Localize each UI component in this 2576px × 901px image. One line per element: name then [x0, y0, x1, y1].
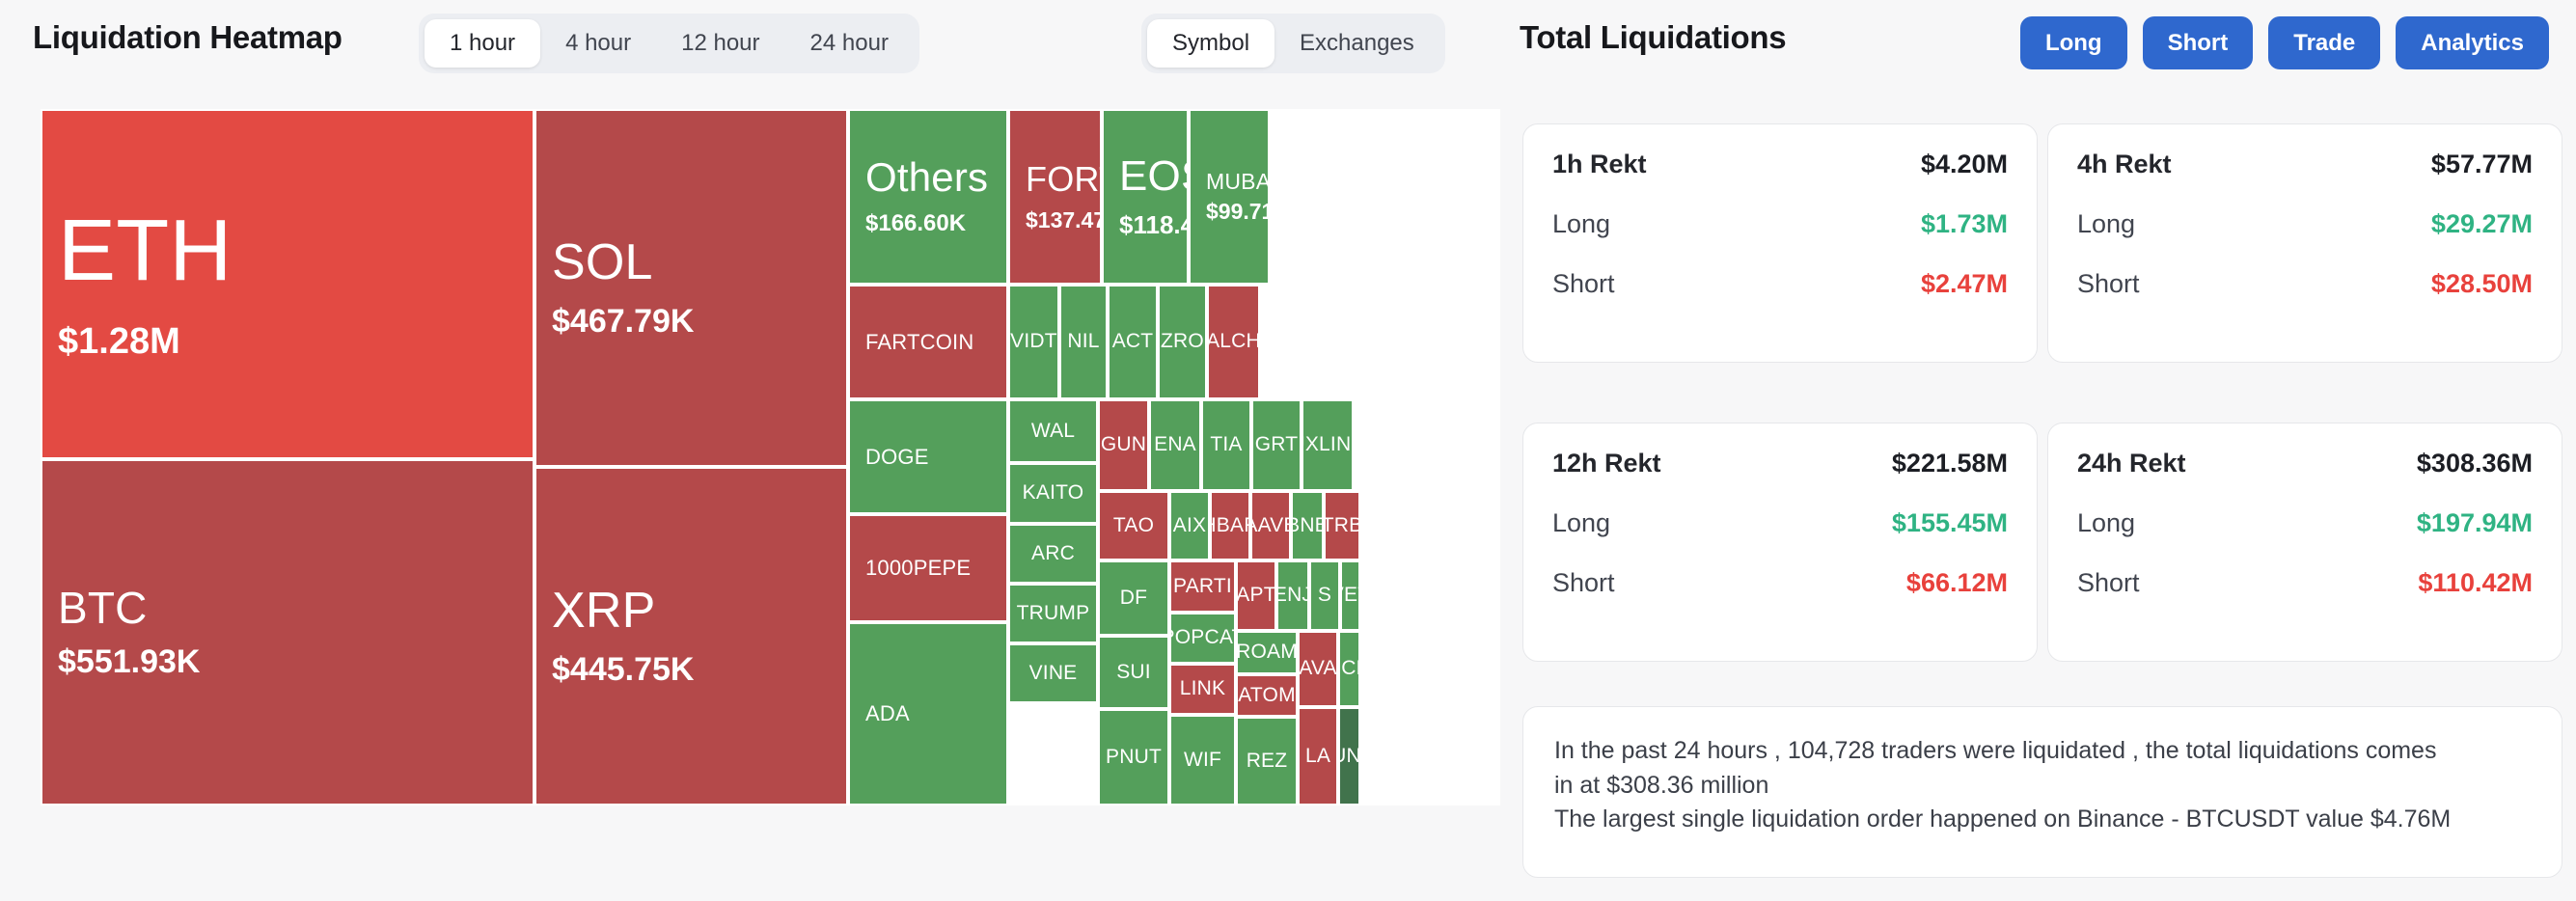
- treemap-tile-symbol: ZRO: [1161, 331, 1204, 352]
- tab-symbol[interactable]: Symbol: [1147, 19, 1274, 68]
- treemap-tile-ada[interactable]: ADA: [848, 622, 1008, 805]
- treemap-tile-symbol: PNUT: [1106, 747, 1162, 768]
- action-button-row: LongShortTradeAnalytics: [2020, 16, 2549, 69]
- treemap-tile-btc[interactable]: BTC$551.93K: [41, 459, 534, 805]
- treemap-tile-aave[interactable]: AAVE: [1250, 491, 1291, 560]
- stat-long-value: $155.45M: [1892, 508, 2008, 538]
- stat-total-row: 1h Rekt $4.20M: [1552, 150, 2008, 179]
- stat-long-value: $197.94M: [2417, 508, 2533, 538]
- treemap-tile-wif[interactable]: WIF: [1169, 715, 1236, 805]
- treemap-tile-trb[interactable]: TRB: [1324, 491, 1360, 560]
- stat-short-row: Short $2.47M: [1552, 269, 2008, 299]
- stat-short-row: Short $110.42M: [2077, 568, 2533, 598]
- treemap-tile-bnb[interactable]: BNB: [1291, 491, 1324, 560]
- treemap-tile-value: $166.60K: [865, 211, 1006, 236]
- treemap-tile-gun[interactable]: GUN: [1098, 399, 1149, 491]
- stat-short-row: Short $28.50M: [2077, 269, 2533, 299]
- treemap-tile-symbol: TRB: [1324, 515, 1360, 536]
- liquidation-treemap[interactable]: ETH$1.28MBTC$551.93KSOL$467.79KXRP$445.7…: [41, 109, 1500, 805]
- stat-long-label: Long: [1552, 209, 1610, 239]
- treemap-tile-symbol: VIDT: [1010, 331, 1057, 352]
- treemap-tile-symbol: GRT: [1255, 434, 1299, 455]
- treemap-tile-wal[interactable]: WAL: [1008, 399, 1098, 463]
- treemap-tile-value: $99.71K: [1206, 200, 1268, 224]
- treemap-tile-symbol: VET: [1340, 585, 1360, 606]
- time-range-tab-group[interactable]: 1 hour4 hour12 hour24 hour: [419, 14, 919, 73]
- treemap-tile-symbol: HBAR: [1210, 515, 1250, 536]
- long-button[interactable]: Long: [2020, 16, 2127, 69]
- treemap-tile-tia[interactable]: TIA: [1201, 399, 1251, 491]
- page-header: Liquidation Heatmap 1 hour4 hour12 hour2…: [0, 0, 2576, 93]
- treemap-tile-symbol: WIF: [1184, 750, 1221, 771]
- stat-short-label: Short: [1552, 269, 1615, 299]
- treemap-tile-symbol: SOL: [552, 236, 846, 289]
- treemap-tile-link[interactable]: LINK: [1169, 664, 1236, 715]
- stat-total-value: $221.58M: [1892, 449, 2008, 478]
- treemap-tile-symbol: BTC: [58, 585, 533, 631]
- treemap-tile-symbol: AVA: [1299, 658, 1337, 679]
- stat-period-label: 1h Rekt: [1552, 150, 1647, 179]
- treemap-tile-vet[interactable]: VET: [1340, 560, 1360, 631]
- stat-short-value: $110.42M: [2418, 568, 2533, 598]
- treemap-tile-symbol: UXLINK: [1302, 434, 1354, 455]
- treemap-tile-symbol: XRP: [552, 585, 846, 638]
- treemap-tile-kaito[interactable]: KAITO: [1008, 463, 1098, 524]
- stat-long-value: $1.73M: [1921, 209, 2008, 239]
- treemap-tile-la[interactable]: LA: [1298, 707, 1338, 805]
- treemap-tile-value: $118.42K: [1119, 211, 1187, 239]
- treemap-tile-symbol: BNB: [1291, 515, 1324, 536]
- stat-long-value: $29.27M: [2431, 209, 2533, 239]
- stat-card-4h: 4h Rekt $57.77M Long $29.27M Short $28.5…: [2047, 123, 2562, 363]
- treemap-tile-symbol: ROAM: [1236, 642, 1298, 663]
- stat-short-label: Short: [1552, 568, 1615, 598]
- treemap-tile-symbol: ETH: [58, 205, 533, 297]
- treemap-tile-eos[interactable]: EOS$118.42K: [1102, 109, 1189, 285]
- treemap-tile-sui[interactable]: SUI: [1098, 636, 1169, 709]
- treemap-tile-xrp[interactable]: XRP$445.75K: [534, 467, 848, 805]
- stat-short-label: Short: [2077, 568, 2140, 598]
- treemap-tile-value: $551.93K: [58, 644, 533, 680]
- treemap-tile-vidt[interactable]: VIDT: [1008, 285, 1059, 399]
- summary-card: In the past 24 hours , 104,728 traders w…: [1522, 706, 2562, 878]
- treemap-tile-symbol: POPCAT: [1169, 627, 1236, 648]
- tab-4-hour[interactable]: 4 hour: [540, 19, 656, 68]
- treemap-tile-symbol: S: [1318, 585, 1331, 606]
- liquidation-heatmap-page: Liquidation Heatmap 1 hour4 hour12 hour2…: [0, 0, 2576, 901]
- treemap-tile-symbol: REZ: [1247, 751, 1288, 772]
- short-button[interactable]: Short: [2143, 16, 2254, 69]
- treemap-tile-symbol: ARC: [1031, 543, 1075, 564]
- treemap-tile-symbol: AIX: [1173, 515, 1206, 536]
- treemap-tile-roam[interactable]: ROAM: [1236, 631, 1298, 674]
- treemap-tile-symbol: WAL: [1031, 421, 1075, 442]
- treemap-tile-symbol: TAO: [1113, 515, 1154, 536]
- treemap-tile-eth[interactable]: ETH$1.28M: [41, 109, 534, 459]
- view-mode-tab-group[interactable]: SymbolExchanges: [1141, 14, 1445, 73]
- treemap-tile-ena[interactable]: ENA: [1149, 399, 1201, 491]
- treemap-tile-symbol: ENA: [1154, 434, 1196, 455]
- treemap-tile-symbol: 1000PEPE: [865, 557, 1006, 579]
- treemap-tile-value: $1.28M: [58, 322, 533, 363]
- treemap-tile-others[interactable]: Others$166.60K: [848, 109, 1008, 285]
- treemap-tile-symbol: NIL: [1067, 331, 1099, 352]
- tab-12-hour[interactable]: 12 hour: [656, 19, 784, 68]
- treemap-tile-symbol: AAVE: [1250, 515, 1291, 536]
- treemap-tile-aix[interactable]: AIX: [1169, 491, 1210, 560]
- treemap-tile-symbol: ENJ: [1276, 585, 1309, 606]
- treemap-tile-mubarak[interactable]: MUBARAK$99.71K: [1189, 109, 1270, 285]
- treemap-tile-pnut[interactable]: PNUT: [1098, 709, 1169, 805]
- stat-total-value: $57.77M: [2431, 150, 2533, 179]
- stat-short-value: $66.12M: [1906, 568, 2008, 598]
- treemap-tile-arc[interactable]: ARC: [1008, 524, 1098, 584]
- treemap-tile-trump[interactable]: TRUMP: [1008, 584, 1098, 643]
- treemap-tile-zro[interactable]: ZRO: [1158, 285, 1207, 399]
- treemap-tile-act[interactable]: ACT: [1108, 285, 1158, 399]
- treemap-tile-enj[interactable]: ENJ: [1276, 560, 1309, 631]
- stat-period-label: 4h Rekt: [2077, 150, 2172, 179]
- trade-button[interactable]: Trade: [2268, 16, 2380, 69]
- stat-card-1h: 1h Rekt $4.20M Long $1.73M Short $2.47M: [1522, 123, 2038, 363]
- stat-card-24h: 24h Rekt $308.36M Long $197.94M Short $1…: [2047, 423, 2562, 662]
- stat-long-row: Long $155.45M: [1552, 508, 2008, 538]
- treemap-tile-sol[interactable]: SOL$467.79K: [534, 109, 848, 467]
- treemap-tile-symbol: TIA: [1210, 434, 1242, 455]
- treemap-tile-parti[interactable]: PARTI: [1169, 560, 1236, 613]
- stat-card-12h: 12h Rekt $221.58M Long $155.45M Short $6…: [1522, 423, 2038, 662]
- stat-short-row: Short $66.12M: [1552, 568, 2008, 598]
- treemap-tile-df[interactable]: DF: [1098, 560, 1169, 636]
- treemap-tile-value: $467.79K: [552, 304, 846, 340]
- treemap-tile-apt[interactable]: APT: [1236, 560, 1276, 631]
- treemap-tile-atom[interactable]: ATOM: [1236, 674, 1298, 717]
- total-liquidations-title: Total Liquidations: [1520, 19, 1786, 56]
- treemap-tile-symbol: GUN: [1101, 434, 1146, 455]
- analytics-button[interactable]: Analytics: [2396, 16, 2549, 69]
- treemap-tile-symbol: Others: [865, 156, 1006, 199]
- stat-long-row: Long $1.73M: [1552, 209, 2008, 239]
- treemap-tile-ava[interactable]: AVA: [1298, 631, 1338, 707]
- treemap-tile-uxlink[interactable]: UXLINK: [1302, 399, 1354, 491]
- treemap-tile-symbol: VINE: [1029, 663, 1078, 684]
- page-title: Liquidation Heatmap: [33, 19, 343, 56]
- treemap-tile-uni[interactable]: UNI: [1338, 707, 1360, 805]
- treemap-tile-alch[interactable]: ALCH: [1207, 285, 1260, 399]
- treemap-tile-symbol: DOGE: [865, 446, 1006, 468]
- stat-total-value: $4.20M: [1921, 150, 2008, 179]
- treemap-tile-symbol: EOS: [1119, 154, 1187, 199]
- treemap-tile-symbol: MUBARAK: [1206, 170, 1268, 193]
- tab-exchanges[interactable]: Exchanges: [1274, 19, 1439, 68]
- stat-long-label: Long: [2077, 508, 2135, 538]
- stat-short-label: Short: [2077, 269, 2140, 299]
- stat-total-row: 24h Rekt $308.36M: [2077, 449, 2533, 478]
- treemap-tile-s[interactable]: S: [1309, 560, 1340, 631]
- stat-long-label: Long: [2077, 209, 2135, 239]
- treemap-tile-popcat[interactable]: POPCAT: [1169, 613, 1236, 664]
- treemap-tile-1000pepe[interactable]: 1000PEPE: [848, 514, 1008, 622]
- treemap-tile-symbol: BCH: [1338, 658, 1360, 679]
- stat-total-row: 4h Rekt $57.77M: [2077, 150, 2533, 179]
- treemap-tile-forth[interactable]: FORTH$137.47K: [1008, 109, 1102, 285]
- treemap-tile-symbol: FORTH: [1026, 161, 1100, 198]
- stat-total-value: $308.36M: [2417, 449, 2533, 478]
- summary-line-2: in at $308.36 million: [1554, 769, 2531, 804]
- stat-long-label: Long: [1552, 508, 1610, 538]
- treemap-tile-tao[interactable]: TAO: [1098, 491, 1169, 560]
- treemap-tile-symbol: LA: [1305, 746, 1330, 767]
- treemap-tile-symbol: ADA: [865, 702, 1006, 724]
- treemap-tile-symbol: PARTI: [1173, 576, 1232, 597]
- stat-total-row: 12h Rekt $221.58M: [1552, 449, 2008, 478]
- treemap-tile-symbol: UNI: [1338, 746, 1360, 767]
- treemap-tile-symbol: APT: [1236, 585, 1275, 606]
- stat-short-value: $28.50M: [2431, 269, 2533, 299]
- treemap-tile-symbol: DF: [1120, 587, 1147, 609]
- treemap-tile-vine[interactable]: VINE: [1008, 643, 1098, 703]
- summary-line-1: In the past 24 hours , 104,728 traders w…: [1554, 734, 2531, 769]
- treemap-tile-symbol: ACT: [1112, 331, 1154, 352]
- treemap-tile-symbol: TRUMP: [1017, 603, 1090, 624]
- stat-short-value: $2.47M: [1921, 269, 2008, 299]
- treemap-tile-value: $137.47K: [1026, 208, 1100, 232]
- treemap-tile-bch[interactable]: BCH: [1338, 631, 1360, 707]
- treemap-tile-hbar[interactable]: HBAR: [1210, 491, 1250, 560]
- stat-period-label: 24h Rekt: [2077, 449, 2186, 478]
- treemap-tile-doge[interactable]: DOGE: [848, 399, 1008, 514]
- treemap-tile-fartcoin[interactable]: FARTCOIN: [848, 285, 1008, 399]
- treemap-tile-rez[interactable]: REZ: [1236, 717, 1298, 805]
- stat-long-row: Long $29.27M: [2077, 209, 2533, 239]
- stat-period-label: 12h Rekt: [1552, 449, 1661, 478]
- tab-1-hour[interactable]: 1 hour: [425, 19, 540, 68]
- tab-24-hour[interactable]: 24 hour: [785, 19, 914, 68]
- treemap-tile-symbol: KAITO: [1023, 482, 1084, 504]
- treemap-tile-symbol: ATOM: [1238, 685, 1296, 706]
- treemap-tile-symbol: ALCH: [1207, 331, 1260, 352]
- treemap-tile-symbol: FARTCOIN: [865, 331, 1006, 353]
- treemap-tile-value: $445.75K: [552, 652, 846, 688]
- summary-line-3: The largest single liquidation order hap…: [1554, 803, 2531, 837]
- treemap-tile-symbol: SUI: [1116, 662, 1151, 683]
- treemap-tile-grt[interactable]: GRT: [1251, 399, 1302, 491]
- treemap-tile-symbol: LINK: [1180, 678, 1226, 699]
- treemap-tile-nil[interactable]: NIL: [1059, 285, 1108, 399]
- stat-long-row: Long $197.94M: [2077, 508, 2533, 538]
